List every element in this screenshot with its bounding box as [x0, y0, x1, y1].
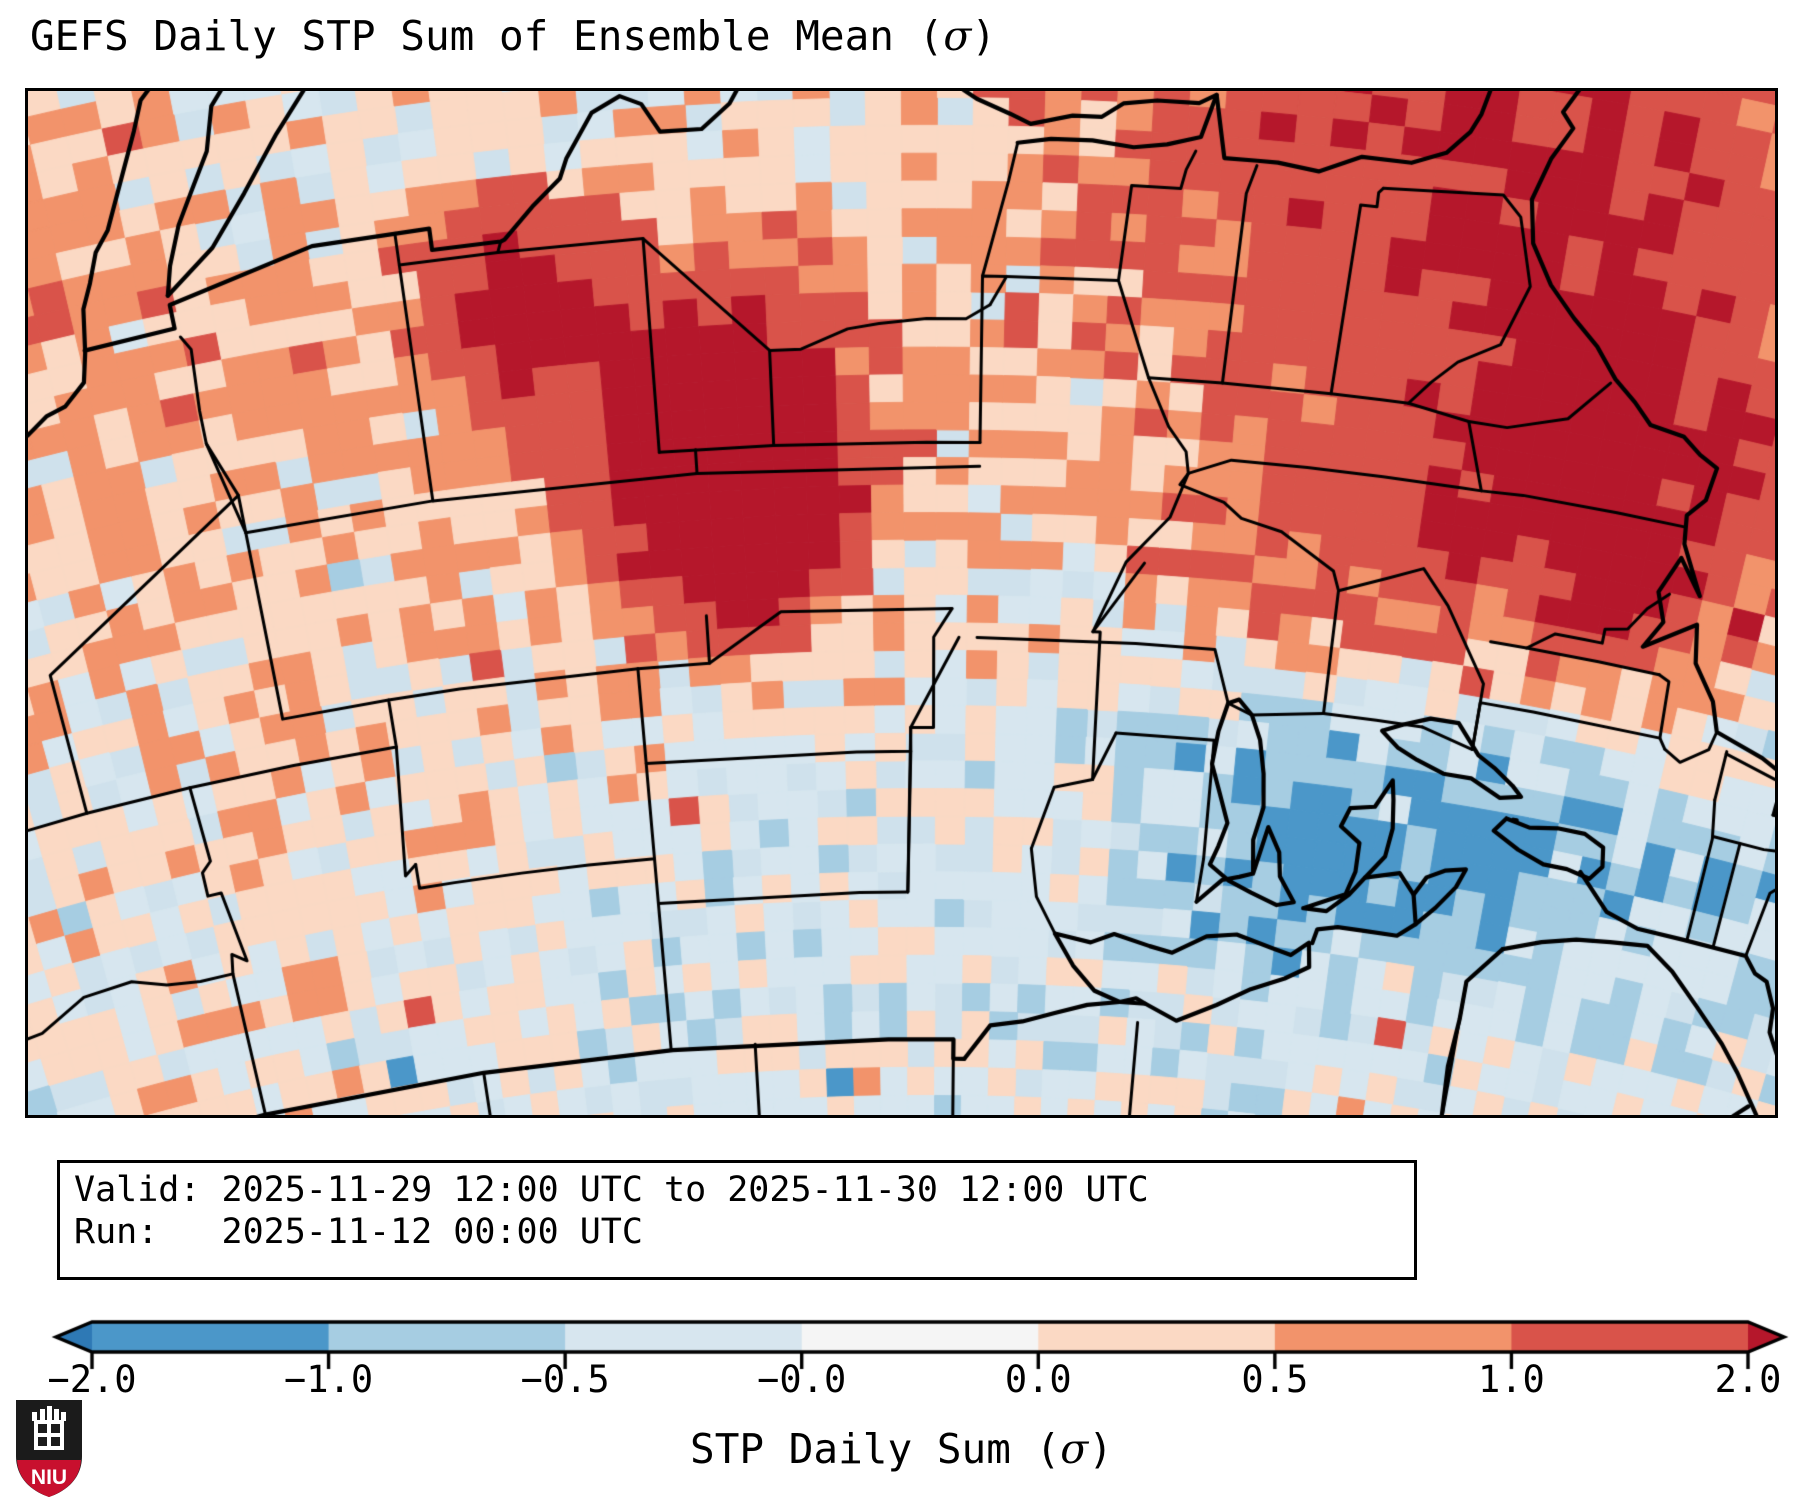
colorbar-tick-label: 0.5 — [1241, 1358, 1308, 1401]
niu-wordmark: NIU — [31, 1466, 67, 1489]
forecast-info-box: Valid: 2025-11-29 12:00 UTC to 2025-11-3… — [57, 1160, 1417, 1280]
colorbar-axis-label: STP Daily Sum (σ) — [0, 1425, 1803, 1473]
niu-logo: NIU — [12, 1398, 86, 1498]
colorbar-tick-label: −0.0 — [757, 1358, 846, 1401]
map-panel[interactable] — [25, 88, 1778, 1118]
page-title-suffix: ) — [971, 12, 996, 60]
colorbar-gradient — [0, 1300, 1803, 1506]
colorbar-tick-label: −1.0 — [284, 1358, 373, 1401]
page-title: GEFS Daily STP Sum of Ensemble Mean (σ) — [30, 14, 996, 59]
colorbar-tick-label: −2.0 — [47, 1358, 136, 1401]
colorbar — [0, 1300, 1803, 1506]
colorbar-label-suffix: ) — [1088, 1425, 1113, 1473]
colorbar-label-text: STP Daily Sum ( — [690, 1425, 1060, 1473]
run-time-line: Run: 2025-11-12 00:00 UTC — [74, 1211, 1400, 1253]
page-title-text: GEFS Daily STP Sum of Ensemble Mean ( — [30, 12, 943, 60]
colorbar-tick-label: −0.5 — [521, 1358, 610, 1401]
stp-anomaly-map[interactable] — [28, 91, 1775, 1115]
sigma-symbol: σ — [943, 12, 971, 60]
valid-time-line: Valid: 2025-11-29 12:00 UTC to 2025-11-3… — [74, 1169, 1400, 1211]
colorbar-sigma-symbol: σ — [1060, 1425, 1088, 1473]
colorbar-tick-label: 2.0 — [1715, 1358, 1782, 1401]
colorbar-tick-label: 1.0 — [1478, 1358, 1545, 1401]
colorbar-tick-label: 0.0 — [1005, 1358, 1072, 1401]
